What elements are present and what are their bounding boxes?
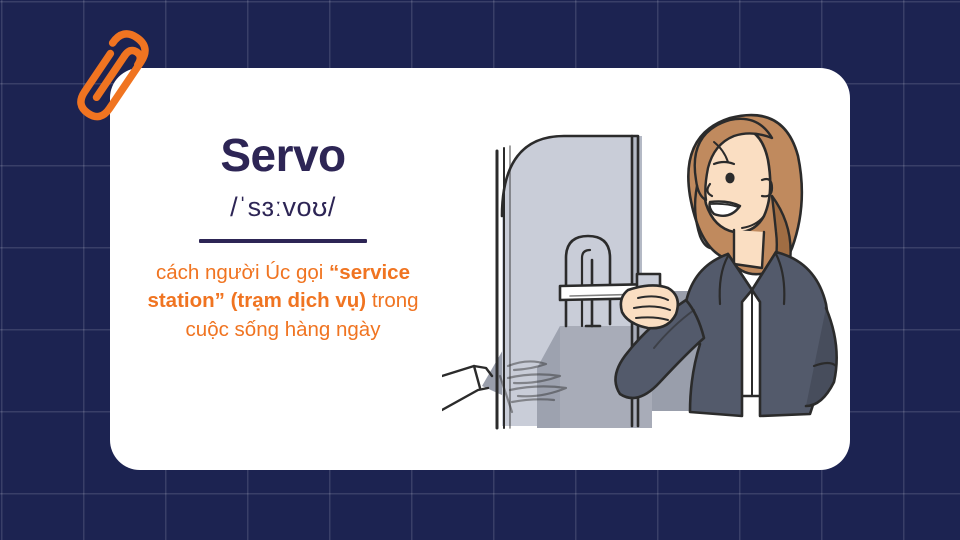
definition-line1-bold: “service (329, 261, 410, 284)
definition-line1-plain: cách người Úc gọi (156, 261, 329, 284)
page-title: Servo (220, 132, 345, 178)
vocabulary-text-panel: Servo /ˈsɜːvoʊ/ cách người Úc gọi “servi… (110, 68, 458, 470)
divider (199, 239, 367, 243)
phonetic-transcription: /ˈsɜːvoʊ/ (230, 194, 336, 221)
definition-text: cách người Úc gọi “service station” (trạ… (138, 259, 428, 344)
definition-line2-bold: station” (trạm dịch vụ) (147, 289, 366, 312)
illustration-panel (458, 68, 850, 470)
content-card: Servo /ˈsɜːvoʊ/ cách người Úc gọi “servi… (110, 68, 850, 470)
woman-at-fuel-pump-illustration (442, 76, 850, 466)
